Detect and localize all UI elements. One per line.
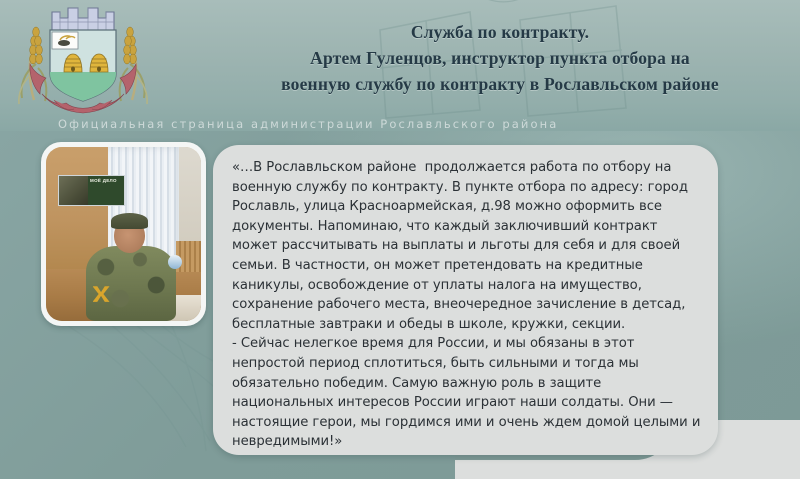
title-line-1: Служба по контракту. bbox=[200, 19, 800, 45]
quote-panel: «…В Рославльском районе продолжается раб… bbox=[213, 145, 718, 455]
portrait-photo-frame: МОЁ ДЕЛО bbox=[41, 142, 206, 326]
poster-text: МОЁ ДЕЛО bbox=[88, 176, 124, 206]
photo-wall-poster: МОЁ ДЕЛО bbox=[58, 175, 125, 207]
page-title: Служба по контракту. Артем Гуленцов, инс… bbox=[200, 19, 800, 97]
poster-image bbox=[59, 176, 88, 206]
coat-of-arms-emblem bbox=[12, 2, 154, 124]
header-band: Служба по контракту. Артем Гуленцов, инс… bbox=[0, 0, 800, 131]
title-line-2: Артем Гуленцов, инструктор пункта отбора… bbox=[200, 45, 800, 71]
banner-image: Служба по контракту. Артем Гуленцов, инс… bbox=[0, 0, 800, 479]
photo-soldier-cap bbox=[111, 213, 148, 229]
mural-crown-icon bbox=[52, 8, 114, 30]
photo-soldier-uniform bbox=[86, 246, 176, 321]
site-subtitle: Официальная страница администрации Росла… bbox=[58, 117, 558, 131]
portrait-photo: МОЁ ДЕЛО bbox=[46, 147, 201, 321]
quote-body-text: «…В Рославльском районе продолжается раб… bbox=[232, 158, 702, 452]
title-line-3: военную службу по контракту в Рославльск… bbox=[200, 71, 800, 97]
